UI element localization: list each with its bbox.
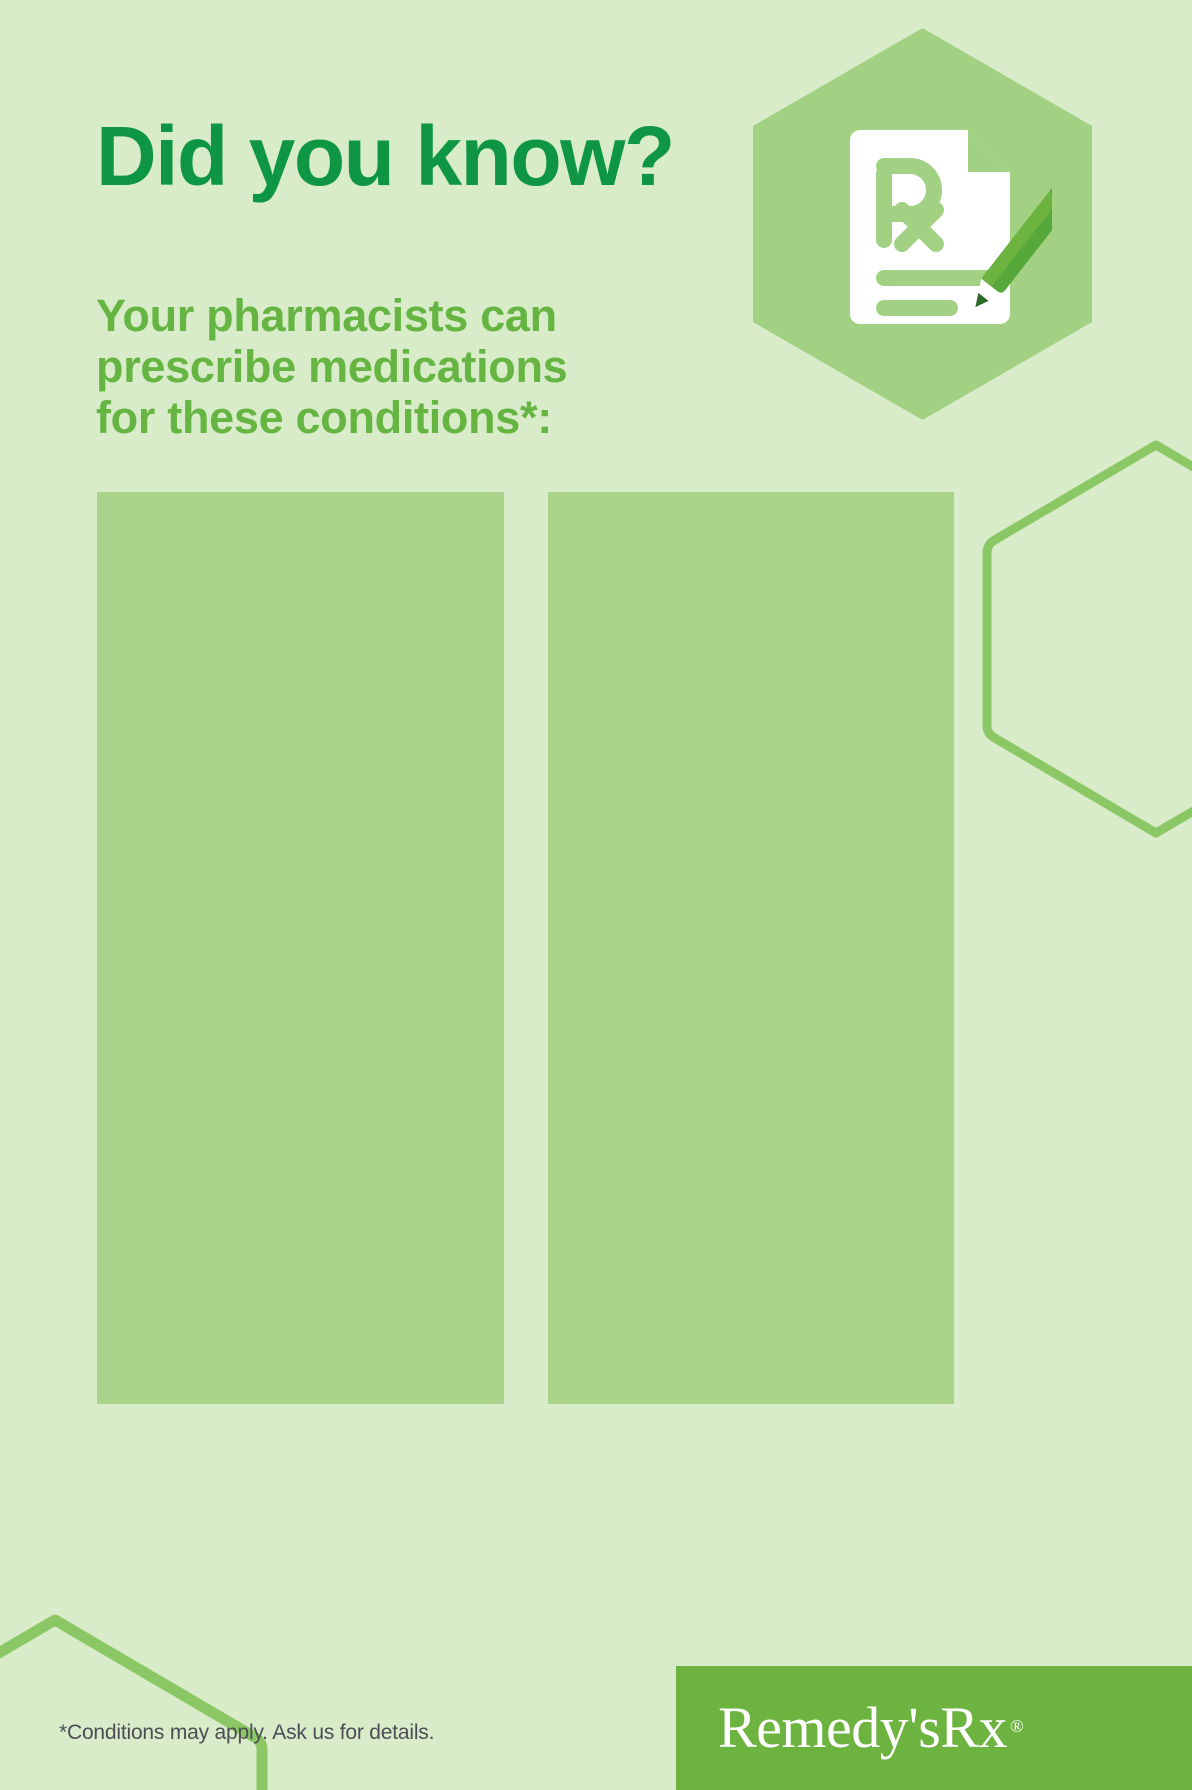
subtitle-line-1: Your pharmacists can xyxy=(96,291,567,342)
poster-canvas: Did you know? Your pharmacists can presc… xyxy=(0,0,1192,1790)
rx-document-with-pen-icon xyxy=(840,118,1052,333)
brand-logo: Remedy'sRx ® xyxy=(676,1666,1192,1790)
conditions-column-right xyxy=(548,492,955,1404)
subtitle-line-3: for these conditions*: xyxy=(96,393,567,444)
conditions-columns xyxy=(97,492,954,1404)
page-title: Did you know? xyxy=(96,112,674,200)
subtitle-line-2: prescribe medications xyxy=(96,342,567,393)
footnote-text: *Conditions may apply. Ask us for detail… xyxy=(59,1721,434,1745)
registered-trademark-icon: ® xyxy=(1010,1716,1024,1737)
conditions-column-left xyxy=(97,492,504,1404)
page-subtitle: Your pharmacists can prescribe medicatio… xyxy=(96,291,567,444)
hexagon-outline-shape-right xyxy=(981,437,1192,841)
brand-logo-text: Remedy'sRx xyxy=(718,1699,1007,1757)
hexagon-outline-shape-bottom-left xyxy=(0,1612,270,1790)
